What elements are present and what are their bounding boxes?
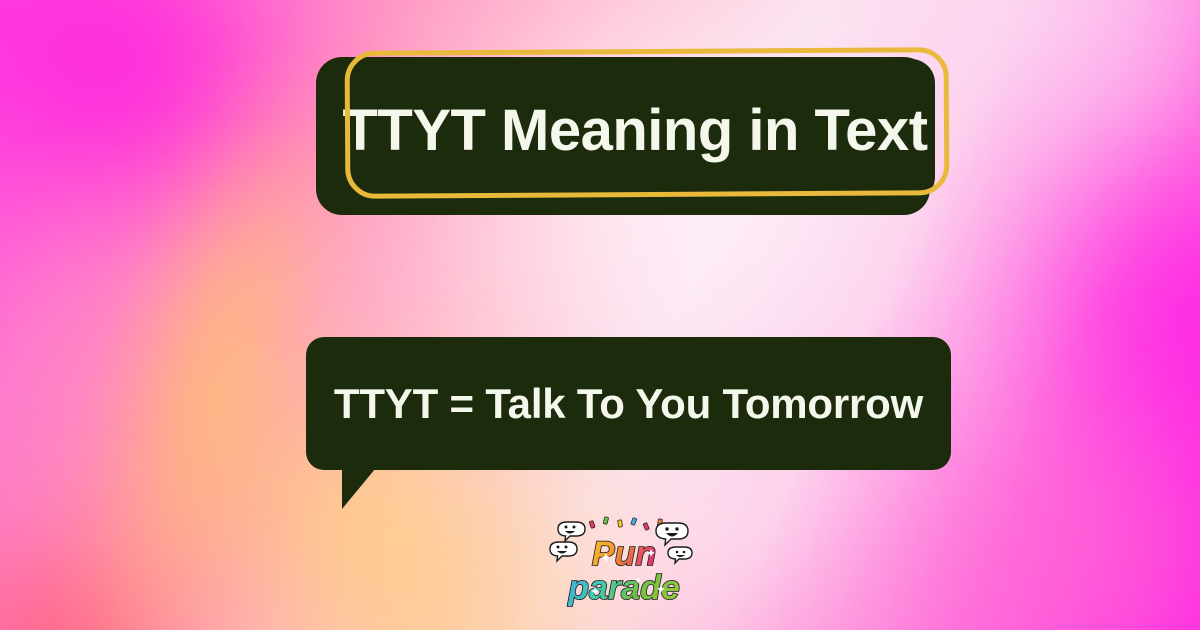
- answer-bubble-box: TTYT = Talk To You Tomorrow: [306, 337, 951, 470]
- gradient-blob-red-bottom-left: [0, 470, 270, 630]
- answer-speech-bubble: TTYT = Talk To You Tomorrow: [306, 337, 951, 470]
- smiley-speech-bubble-icon-1: [558, 522, 585, 541]
- pun-parade-logo[interactable]: Pun parade: [548, 515, 700, 610]
- title-banner: TTYT Meaning in Text: [316, 57, 930, 215]
- smiley-speech-bubble-icon-4: [668, 547, 692, 563]
- smiley-speech-bubble-icon-2: [550, 542, 577, 561]
- gradient-blob-magenta-far-right: [1080, 260, 1200, 630]
- share-card-canvas: TTYT Meaning in Text TTYT = Talk To You …: [0, 0, 1200, 630]
- smiley-speech-bubble-icon-3: [656, 523, 688, 545]
- title-banner-outline: [345, 47, 950, 199]
- answer-text: TTYT = Talk To You Tomorrow: [334, 380, 923, 428]
- logo-artwork: Pun parade: [548, 515, 700, 610]
- logo-word-top: Pun: [592, 535, 656, 573]
- gradient-blob-magenta-right: [940, 40, 1200, 600]
